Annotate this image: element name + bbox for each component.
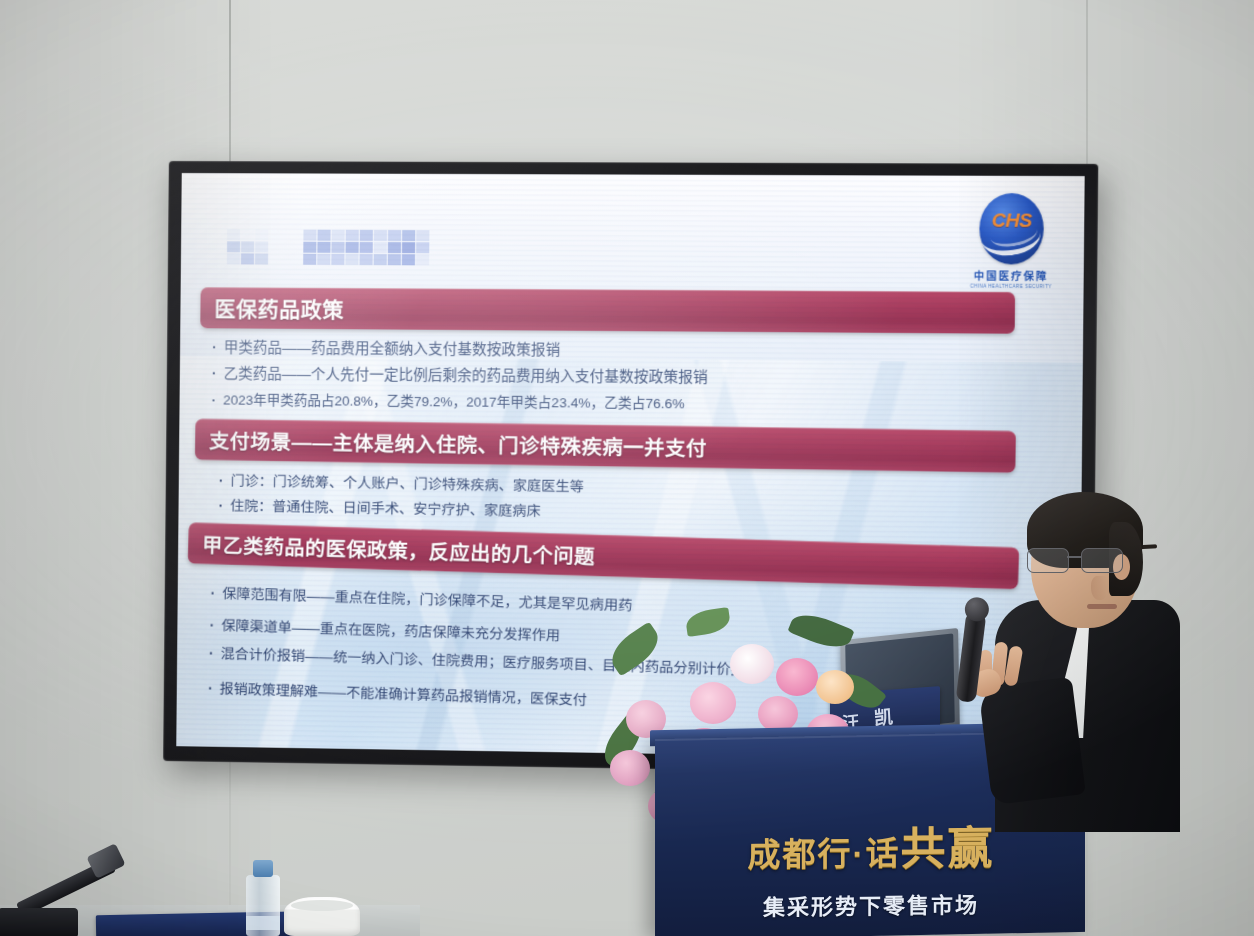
- glasses-lens-left: [1027, 548, 1069, 573]
- glasses-bridge: [1067, 556, 1081, 558]
- redaction-block-large: [303, 230, 429, 266]
- tea-cup: [284, 897, 360, 936]
- mic-base: [0, 908, 78, 936]
- chs-logo: CHS 中国医疗保障 CHINA HEALTHCARE SECURITY: [963, 193, 1059, 289]
- bullet-item: 2023年甲类药品占20.8%，乙类79.2%，2017年甲类占23.4%，乙类…: [211, 387, 707, 417]
- presentation-photo-scene: CHS 中国医疗保障 CHINA HEALTHCARE SECURITY 医保药…: [0, 0, 1254, 936]
- bullet-item: 甲类药品——药品费用全额纳入支付基数按政策报销: [212, 335, 708, 365]
- section-bullets-2: 门诊：门诊统筹、个人账户、门诊特殊疾病、家庭医生等 住院：普通住院、日间手术、安…: [218, 468, 584, 525]
- table-gooseneck-microphone: [8, 852, 120, 910]
- redaction-block-small: [227, 229, 268, 264]
- section-heading-1: 医保药品政策: [200, 293, 344, 324]
- section-heading-2: 支付场景——主体是纳入住院、门诊特殊疾病一并支付: [195, 425, 707, 462]
- chs-orb-icon: CHS: [979, 193, 1044, 265]
- chs-org-name-cn: 中国医疗保障: [963, 267, 1058, 283]
- podium-banner-highlight: 共赢: [900, 822, 994, 874]
- water-bottle: [246, 875, 280, 936]
- glasses-lens-right: [1081, 548, 1123, 573]
- speaker-glasses: [1027, 548, 1131, 572]
- section-heading-3: 甲乙类药品的医保政策，反应出的几个问题: [188, 528, 596, 570]
- podium-banner-prefix: 成都行·话: [747, 835, 900, 874]
- section-bullets-1: 甲类药品——药品费用全额纳入支付基数按政策报销 乙类药品——个人先付一定比例后剩…: [211, 335, 708, 417]
- podium-banner-subtitle: 集采形势下零售市场: [671, 887, 1071, 924]
- speaker-mouth: [1087, 604, 1117, 609]
- redacted-slide-title: [227, 229, 430, 265]
- speaker-presenter: [985, 492, 1185, 822]
- bullet-item: 乙类药品——个人先付一定比例后剩余的药品费用纳入支付基数按政策报销: [212, 361, 708, 391]
- speaker-nose: [1091, 576, 1107, 600]
- section-heading-bar-1: 医保药品政策: [200, 287, 1015, 334]
- chs-org-name-en: CHINA HEALTHCARE SECURITY: [963, 284, 1058, 290]
